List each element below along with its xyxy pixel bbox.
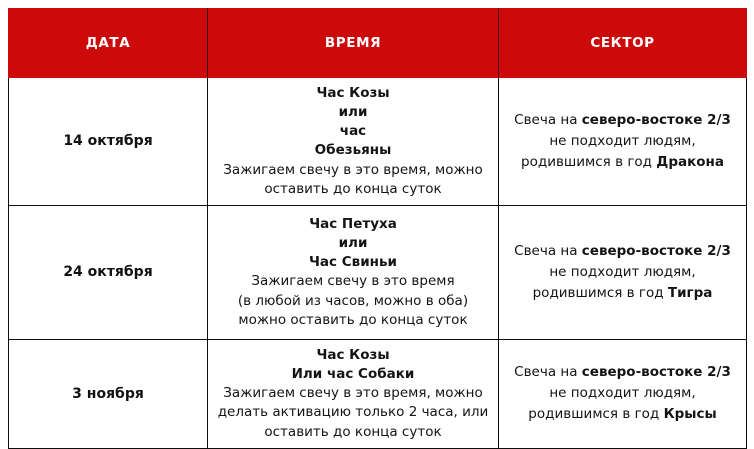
time-line: делать активацию только 2 часа, или [216,403,490,422]
column-header-date: ДАТА [9,9,208,78]
cell-date: 14 октября [9,78,208,206]
sector-text: Свеча на [514,243,582,259]
sector-emphasis: Дракона [656,154,724,170]
cell-date: 3 ноября [9,339,208,448]
time-line: или [216,234,490,253]
cell-time: Час КозыиличасОбезьяныЗажигаем свечу в э… [208,78,499,206]
table-header: ДАТА ВРЕМЯ СЕКТОР [9,9,747,78]
table-row: 24 октябряЧас ПетухаилиЧас СвиньиЗажигае… [9,205,747,339]
sector-emphasis: северо-востоке 2/3 [582,364,731,380]
time-line: Час Петуха [216,215,490,234]
table-body: 14 октябряЧас КозыиличасОбезьяныЗажигаем… [9,78,747,449]
sector-text: не подходит людям, [549,133,695,149]
column-header-time: ВРЕМЯ [208,9,499,78]
sector-line: Свеча на северо-востоке 2/3 [509,110,736,131]
column-header-sector: СЕКТОР [499,9,747,78]
cell-sector: Свеча на северо-востоке 2/3не подходит л… [499,78,747,206]
cell-time: Час ПетухаилиЧас СвиньиЗажигаем свечу в … [208,205,499,339]
sector-line: Свеча на северо-востоке 2/3 [509,362,736,383]
table-row: 3 ноябряЧас КозыИли час СобакиЗажигаем с… [9,339,747,448]
time-line: Час Свиньи [216,253,490,272]
sector-text: родившимся в год [528,406,663,422]
sector-line: Свеча на северо-востоке 2/3 [509,241,736,262]
activation-table: ДАТА ВРЕМЯ СЕКТОР 14 октябряЧас Козыилич… [8,8,747,449]
time-line: Или час Собаки [216,365,490,384]
sector-text: не подходит людям, [549,385,695,401]
cell-time: Час КозыИли час СобакиЗажигаем свечу в э… [208,339,499,448]
time-line: час [216,122,490,141]
time-line: Час Козы [216,84,490,103]
sector-emphasis: Тигра [668,285,713,301]
sector-line: родившимся в год Дракона [509,152,736,173]
time-line: Зажигаем свечу в это время, можно [216,384,490,403]
time-line: Зажигаем свечу в это время, можно [216,161,490,180]
sector-text: Свеча на [514,112,582,128]
sector-text: Свеча на [514,364,582,380]
sector-emphasis: северо-востоке 2/3 [582,112,731,128]
sector-line: родившимся в год Тигра [509,283,736,304]
time-line: Час Козы [216,346,490,365]
sector-line: родившимся в год Крысы [509,404,736,425]
cell-sector: Свеча на северо-востоке 2/3не подходит л… [499,339,747,448]
sector-text: не подходит людям, [549,264,695,280]
table-header-row: ДАТА ВРЕМЯ СЕКТОР [9,9,747,78]
sector-line: не подходит людям, [509,383,736,404]
sector-emphasis: Крысы [664,406,717,422]
sector-text: родившимся в год [533,285,668,301]
time-line: или [216,103,490,122]
time-line: оставить до конца суток [216,180,490,199]
sector-line: не подходит людям, [509,262,736,283]
time-line: Зажигаем свечу в это время [216,272,490,291]
sector-line: не подходит людям, [509,131,736,152]
time-line: Обезьяны [216,141,490,160]
time-line: (в любой из часов, можно в оба) [216,292,490,311]
time-line: можно оставить до конца суток [216,311,490,330]
sector-emphasis: северо-востоке 2/3 [582,243,731,259]
time-line: оставить до конца суток [216,423,490,442]
sector-text: родившимся в год [521,154,656,170]
cell-sector: Свеча на северо-востоке 2/3не подходит л… [499,205,747,339]
activation-table-container: ДАТА ВРЕМЯ СЕКТОР 14 октябряЧас Козыилич… [8,8,746,421]
table-row: 14 октябряЧас КозыиличасОбезьяныЗажигаем… [9,78,747,206]
cell-date: 24 октября [9,205,208,339]
